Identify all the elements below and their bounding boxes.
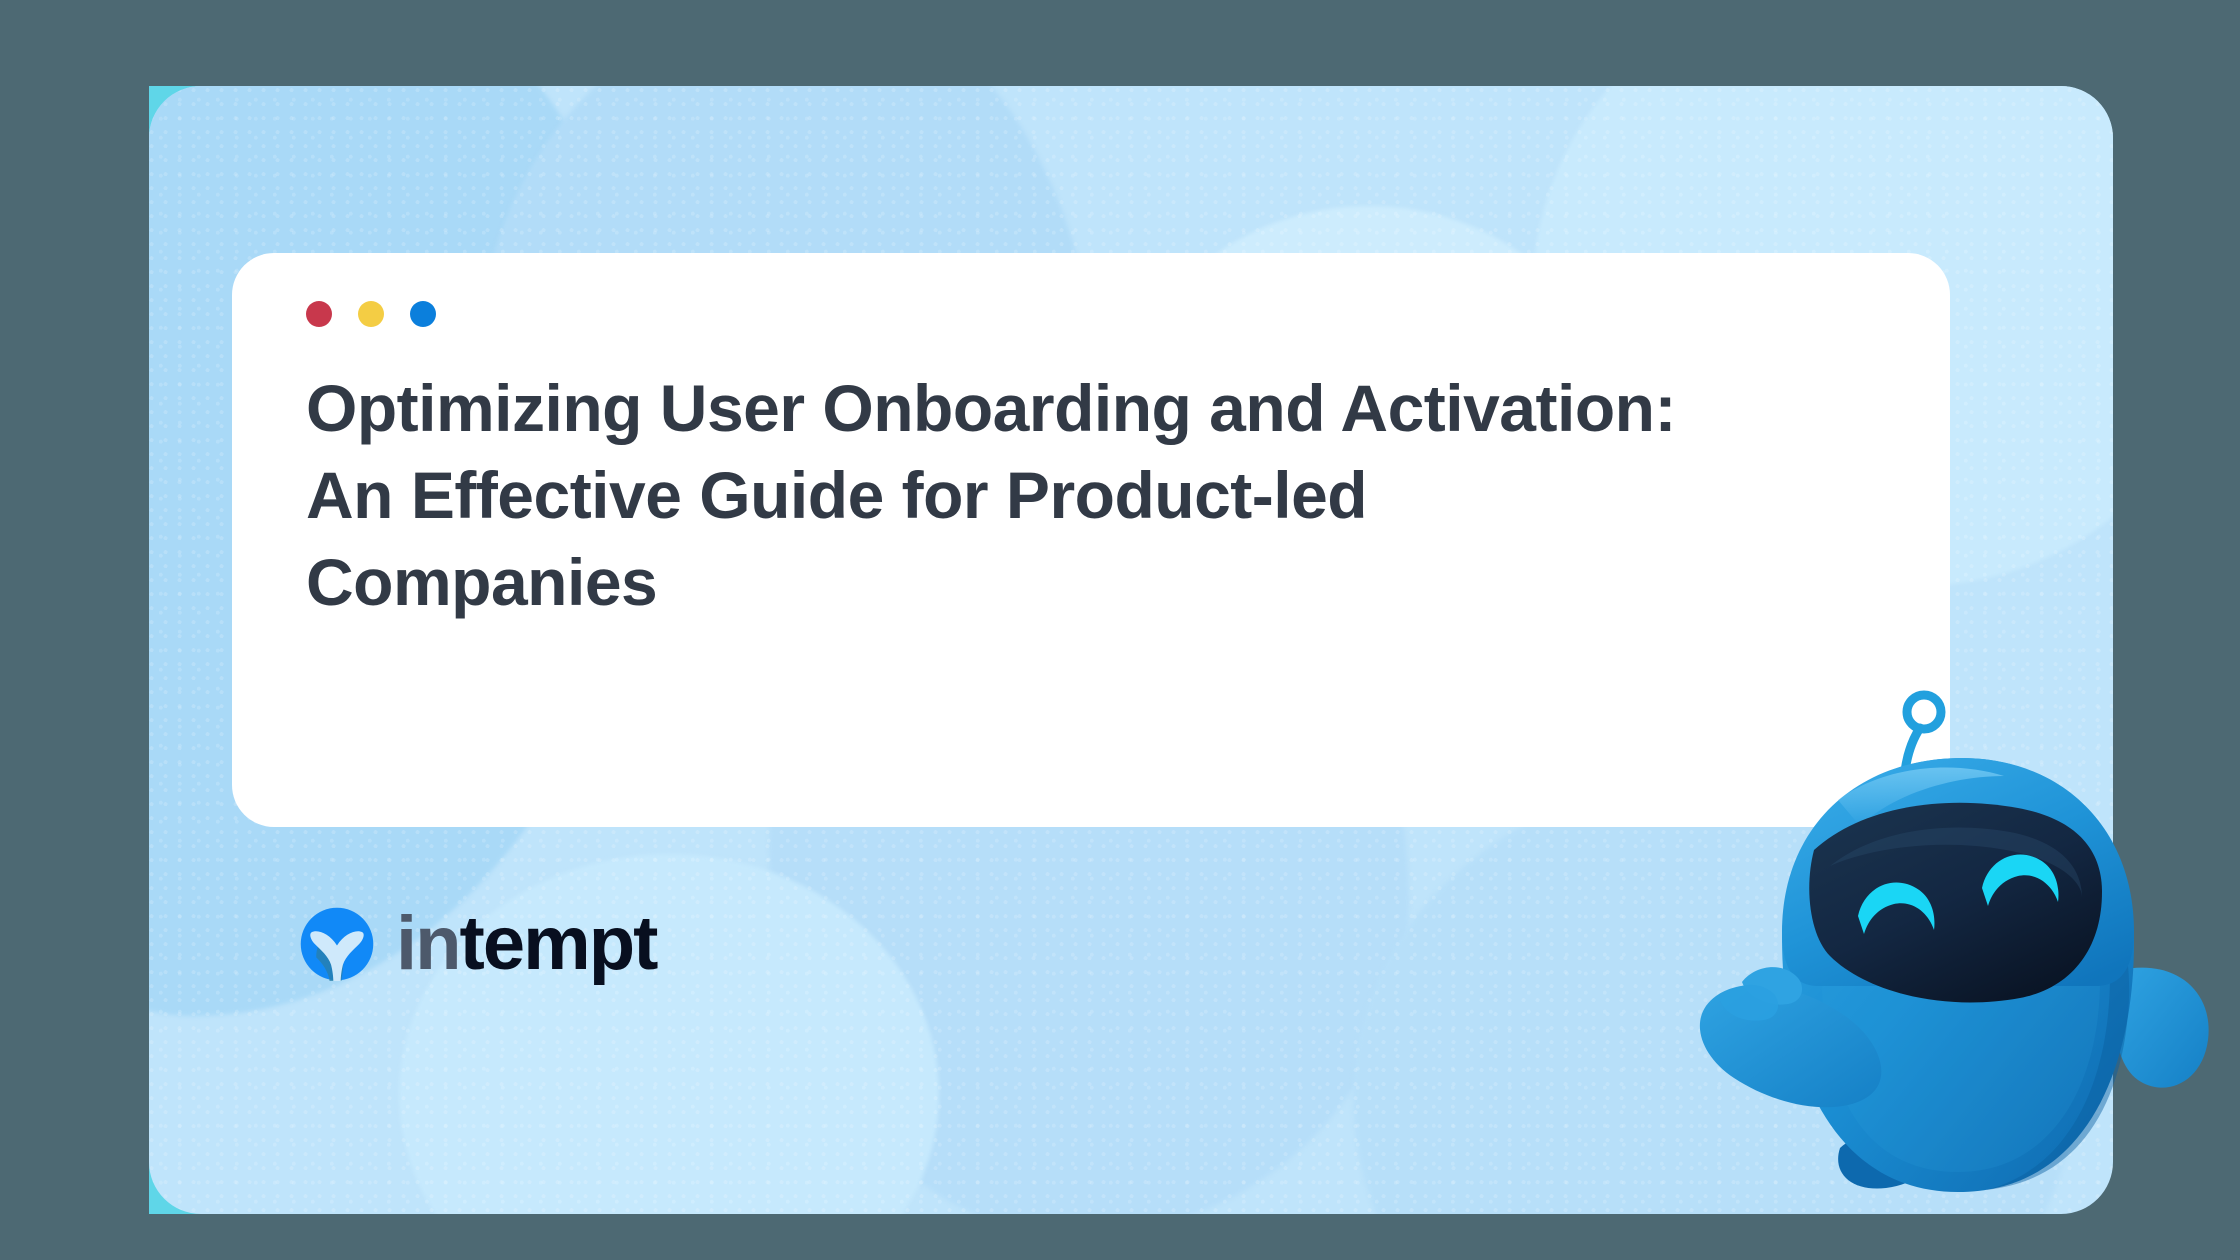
minimize-dot[interactable]: [358, 301, 384, 327]
page-title: Optimizing User Onboarding and Activatio…: [306, 365, 1726, 626]
close-dot[interactable]: [306, 301, 332, 327]
brand-wordmark: in tempt: [396, 906, 656, 982]
poster-canvas: Optimizing User Onboarding and Activatio…: [0, 0, 2240, 1260]
intempt-robot-mascot-icon: [1690, 680, 2240, 1260]
intempt-whale-tail-icon: [300, 907, 374, 981]
wordmark-in: in: [396, 906, 460, 982]
brand-logo[interactable]: in tempt: [300, 906, 656, 982]
wordmark-tempt: tempt: [460, 906, 657, 982]
window-controls: [306, 301, 436, 327]
maximize-dot[interactable]: [410, 301, 436, 327]
